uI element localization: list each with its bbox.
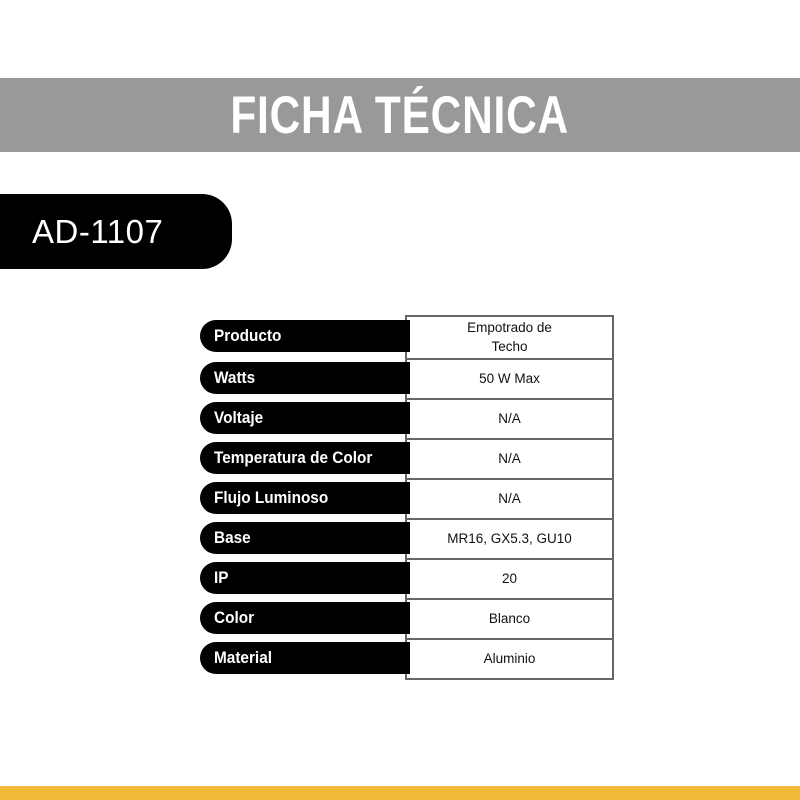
spec-table: ProductoEmpotrado deTechoWatts50 W MaxVo… bbox=[200, 315, 614, 680]
spec-value-cell: 50 W Max bbox=[405, 360, 614, 400]
table-row: Flujo LuminosoN/A bbox=[200, 480, 614, 520]
spec-label-temperatura-de-color: Temperatura de Color bbox=[200, 442, 410, 474]
spec-value-text: Empotrado deTecho bbox=[467, 319, 552, 355]
spec-value-text: Aluminio bbox=[484, 650, 536, 668]
spec-label-voltaje: Voltaje bbox=[200, 402, 410, 434]
table-row: ColorBlanco bbox=[200, 600, 614, 640]
spec-label-text: Color bbox=[214, 610, 254, 627]
spec-value-cell: N/A bbox=[405, 440, 614, 480]
spec-label-text: Voltaje bbox=[214, 410, 263, 427]
spec-value-text: N/A bbox=[498, 490, 521, 508]
table-row: IP20 bbox=[200, 560, 614, 600]
header-band: FICHA TÉCNICA bbox=[0, 78, 800, 152]
spec-value-cell: N/A bbox=[405, 480, 614, 520]
spec-label-text: Flujo Luminoso bbox=[214, 490, 328, 507]
footer-accent-bar bbox=[0, 786, 800, 800]
product-code-badge: AD-1107 bbox=[0, 194, 232, 269]
spec-label-producto: Producto bbox=[200, 320, 410, 352]
spec-label-color: Color bbox=[200, 602, 410, 634]
spec-label-base: Base bbox=[200, 522, 410, 554]
spec-value-cell: Aluminio bbox=[405, 640, 614, 680]
spec-value-text: 50 W Max bbox=[479, 370, 540, 388]
spec-value-cell: MR16, GX5.3, GU10 bbox=[405, 520, 614, 560]
page-title: FICHA TÉCNICA bbox=[231, 89, 570, 142]
table-row: Temperatura de ColorN/A bbox=[200, 440, 614, 480]
spec-label-text: Base bbox=[214, 530, 251, 547]
product-code-text: AD-1107 bbox=[32, 213, 163, 251]
spec-value-text: N/A bbox=[498, 450, 521, 468]
spec-label-text: Watts bbox=[214, 370, 255, 387]
spec-value-cell: Empotrado deTecho bbox=[405, 315, 614, 360]
spec-label-text: IP bbox=[214, 570, 229, 587]
table-row: BaseMR16, GX5.3, GU10 bbox=[200, 520, 614, 560]
table-row: VoltajeN/A bbox=[200, 400, 614, 440]
spec-value-cell: N/A bbox=[405, 400, 614, 440]
spec-label-flujo-luminoso: Flujo Luminoso bbox=[200, 482, 410, 514]
spec-label-text: Temperatura de Color bbox=[214, 450, 372, 467]
spec-label-watts: Watts bbox=[200, 362, 410, 394]
spec-label-material: Material bbox=[200, 642, 410, 674]
spec-label-text: Producto bbox=[214, 328, 281, 345]
table-row: Watts50 W Max bbox=[200, 360, 614, 400]
table-row: ProductoEmpotrado deTecho bbox=[200, 315, 614, 360]
table-row: MaterialAluminio bbox=[200, 640, 614, 680]
spec-value-text: 20 bbox=[502, 570, 517, 588]
spec-value-cell: 20 bbox=[405, 560, 614, 600]
spec-value-text: N/A bbox=[498, 410, 521, 428]
spec-label-text: Material bbox=[214, 650, 272, 667]
spec-value-text: MR16, GX5.3, GU10 bbox=[447, 530, 572, 548]
spec-value-text: Blanco bbox=[489, 610, 530, 628]
spec-value-cell: Blanco bbox=[405, 600, 614, 640]
spec-label-ip: IP bbox=[200, 562, 410, 594]
